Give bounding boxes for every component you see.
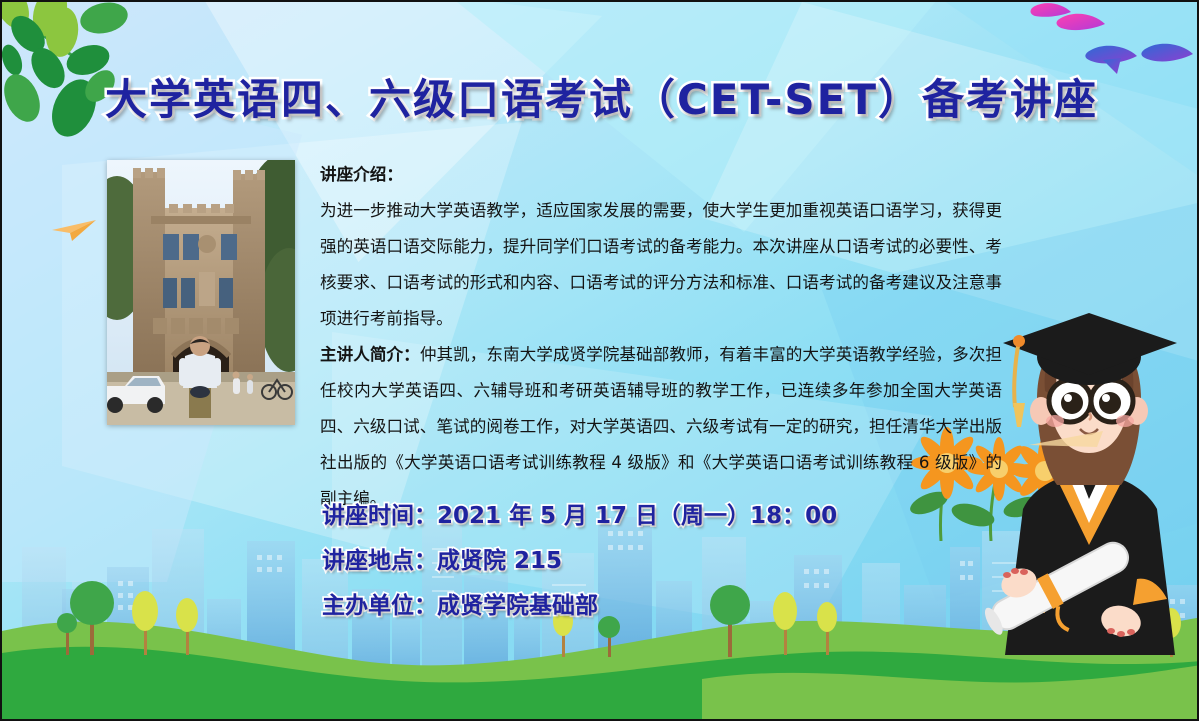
info-row-time: 讲座时间：2021 年 5 月 17 日（周一）18：00 bbox=[322, 494, 1022, 539]
poster-canvas: 大学英语四、六级口语考试（CET-SET）备考讲座 bbox=[0, 0, 1199, 721]
intro-body: 为进一步推动大学英语教学，适应国家发展的需要，使大学生更加重视英语口语学习，获得… bbox=[320, 201, 1002, 328]
speaker-body: 仲其凯，东南大学成贤学院基础部教师，有着丰富的大学英语教学经验，多次担任校内大学… bbox=[320, 345, 1002, 508]
info-row-host: 主办单位：成贤学院基础部 bbox=[322, 584, 1022, 629]
place-label: 讲座地点： bbox=[322, 548, 437, 574]
intro-paragraph: 讲座介绍： 为进一步推动大学英语教学，适应国家发展的需要，使大学生更加重视英语口… bbox=[320, 157, 1002, 337]
time-label: 讲座时间： bbox=[322, 503, 437, 529]
host-value: 成贤学院基础部 bbox=[437, 593, 598, 619]
host-label: 主办单位： bbox=[322, 593, 437, 619]
lecture-description: 讲座介绍： 为进一步推动大学英语教学，适应国家发展的需要，使大学生更加重视英语口… bbox=[320, 157, 1002, 517]
speaker-heading: 主讲人简介： bbox=[320, 345, 420, 364]
intro-heading: 讲座介绍： bbox=[320, 165, 403, 184]
info-row-place: 讲座地点：成贤院 215 bbox=[322, 539, 1022, 584]
poster-title: 大学英语四、六级口语考试（CET-SET）备考讲座 bbox=[2, 66, 1199, 127]
speaker-paragraph: 主讲人简介：仲其凯，东南大学成贤学院基础部教师，有着丰富的大学英语教学经验，多次… bbox=[320, 337, 1002, 517]
paper-plane-icon bbox=[50, 220, 96, 242]
speaker-photo bbox=[107, 160, 295, 425]
lecture-info-block: 讲座时间：2021 年 5 月 17 日（周一）18：00 讲座地点：成贤院 2… bbox=[322, 494, 1022, 629]
time-value: 2021 年 5 月 17 日（周一）18：00 bbox=[437, 503, 837, 529]
place-value: 成贤院 215 bbox=[437, 548, 562, 574]
